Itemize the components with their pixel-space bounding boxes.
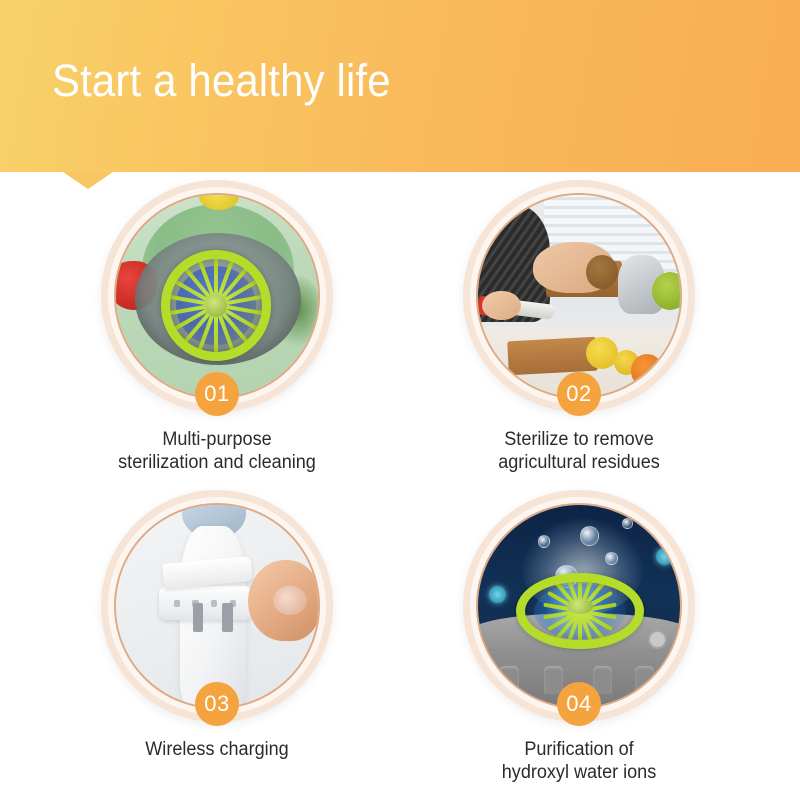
page-title: Start a healthy life [52, 56, 391, 106]
feature-image-wrap-03: 03 [101, 490, 333, 722]
cable-pin [193, 603, 204, 633]
feature-caption-03-line1: Wireless charging [145, 739, 288, 760]
step-badge-03: 03 [195, 682, 239, 726]
step-badge-02: 02 [557, 372, 601, 416]
feature-circle-inner-03 [114, 503, 320, 709]
ion-particle-shape [656, 548, 673, 565]
second-hand-shape [482, 291, 520, 321]
lime-shape [652, 272, 682, 310]
step-badge-01: 01 [195, 372, 239, 416]
feature-caption-01: Multi-purpose sterilization and cleaning [60, 428, 374, 474]
impeller-fan-icon [161, 250, 271, 360]
feature-grid: 01 Multi-purpose sterilization and clean… [0, 172, 800, 800]
device-handle-shape [635, 666, 654, 694]
feature-card-04[interactable]: 04 Purification of hydroxyl water ions [414, 490, 744, 784]
impeller-fan-icon [516, 573, 643, 649]
feature-card-03[interactable]: 03 Wireless charging [52, 490, 382, 761]
feature-caption-02-line1: Sterilize to remove [504, 429, 653, 450]
bubble-shape [538, 535, 551, 548]
feature-card-01[interactable]: 01 Multi-purpose sterilization and clean… [52, 180, 382, 474]
feature-caption-03: Wireless charging [60, 738, 374, 761]
feature-photo-01 [114, 193, 320, 399]
feature-circle-inner-02 [476, 193, 682, 399]
feature-image-wrap-04: 04 [463, 490, 695, 722]
feature-caption-04: Purification of hydroxyl water ions [422, 738, 736, 784]
contact-pin [211, 600, 218, 607]
feature-caption-04-line2: hydroxyl water ions [422, 761, 736, 784]
device-handle-shape [499, 666, 518, 694]
bubble-shape [605, 552, 618, 565]
feature-circle-inner-01 [114, 193, 320, 399]
cable-pin [222, 603, 233, 633]
feature-caption-01-line2: sterilization and cleaning [60, 451, 374, 474]
fan-hub [205, 294, 227, 316]
feature-photo-04 [476, 503, 682, 709]
header-banner: Start a healthy life [0, 0, 800, 172]
bubble-shape [622, 518, 633, 529]
kiwi-shape [586, 255, 618, 289]
feature-image-wrap-01: 01 [101, 180, 333, 412]
feature-image-wrap-02: 02 [463, 180, 695, 412]
fan-hub [567, 599, 592, 614]
feature-circle-inner-04 [476, 503, 682, 709]
orange-shape [631, 354, 663, 388]
cutting-board-shape [507, 337, 598, 376]
feature-caption-02: Sterilize to remove agricultural residue… [422, 428, 736, 474]
feature-caption-02-line2: agricultural residues [422, 451, 736, 474]
step-badge-04: 04 [557, 682, 601, 726]
device-handle-shape [544, 666, 563, 694]
contact-pin [174, 600, 181, 607]
charging-contacts-shape [159, 586, 252, 620]
feature-photo-03 [114, 503, 320, 709]
feature-caption-01-line1: Multi-purpose [162, 429, 271, 450]
feature-caption-04-line1: Purification of [524, 739, 633, 760]
feature-card-02[interactable]: 02 Sterilize to remove agricultural resi… [414, 180, 744, 474]
ion-particle-shape [489, 586, 506, 603]
feature-photo-02 [476, 193, 682, 399]
bubble-shape [580, 526, 599, 545]
